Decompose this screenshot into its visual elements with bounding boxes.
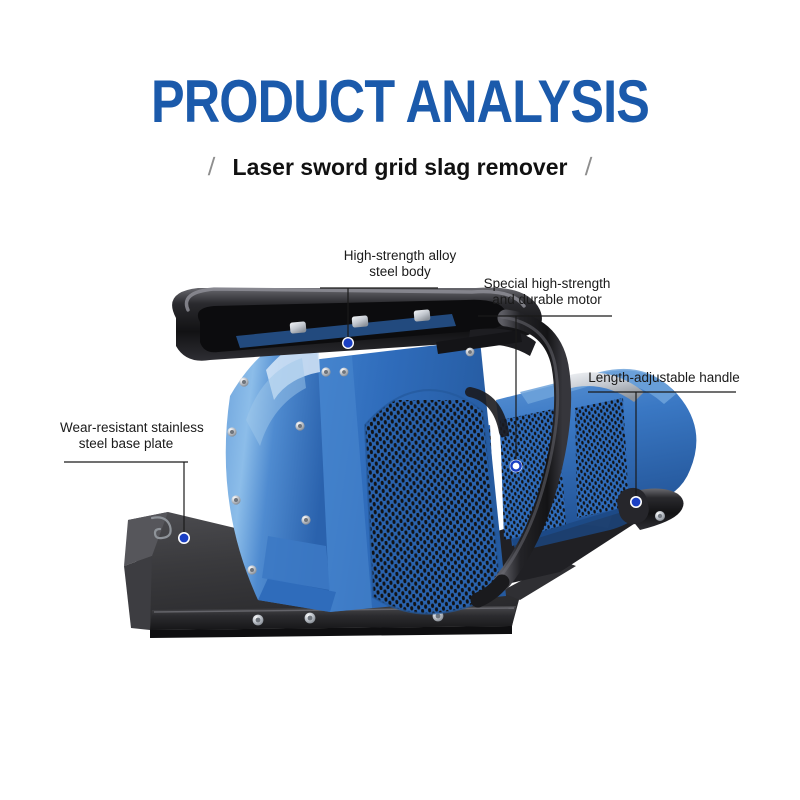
product-analysis-page: PRODUCT ANALYSIS / Laser sword grid slag… — [0, 0, 800, 800]
callout-durable-motor-line2: and durable motor — [478, 292, 616, 308]
callout-stainless-base-plate-line1: Wear-resistant stainless — [60, 420, 192, 436]
callout-alloy-steel-body: High-strength alloy steel body — [320, 248, 480, 280]
callout-length-adjustable-handle-line1: Length-adjustable handle — [588, 370, 740, 386]
callout-stainless-base-plate-line2: steel base plate — [60, 436, 192, 452]
callout-durable-motor: Special high-strength and durable motor — [478, 276, 616, 308]
callout-alloy-steel-body-line1: High-strength alloy — [320, 248, 480, 264]
callout-durable-motor-line1: Special high-strength — [478, 276, 616, 292]
callout-alloy-steel-body-line2: steel body — [320, 264, 480, 280]
callout-stainless-base-plate: Wear-resistant stainless steel base plat… — [60, 420, 192, 452]
callout-length-adjustable-handle: Length-adjustable handle — [588, 370, 740, 386]
product-illustration — [0, 0, 800, 800]
